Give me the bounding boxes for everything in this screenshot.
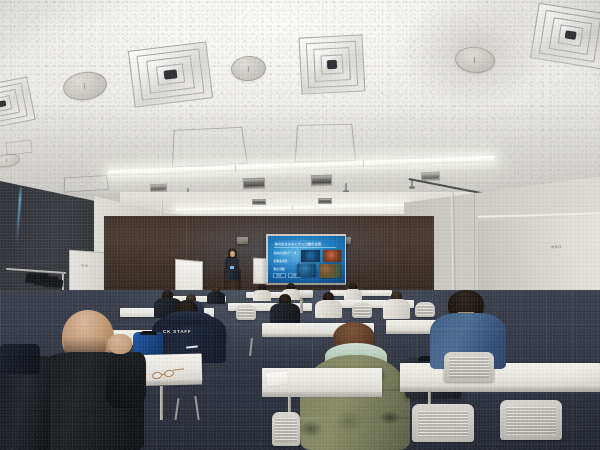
slide-thumbnail-reef-photo — [319, 264, 341, 278]
attendee-body — [383, 299, 410, 319]
clothes-hanger-icon — [42, 278, 63, 288]
ceiling-access-panel — [295, 124, 356, 162]
attendee-body — [207, 292, 225, 304]
hvac-diffuser-icon — [530, 3, 600, 70]
sprinkler-head-icon — [345, 183, 347, 191]
presenter-face — [230, 251, 235, 257]
hvac-diffuser-icon — [128, 41, 213, 107]
ceiling-access-panel — [64, 175, 109, 192]
bald-man-hand — [108, 334, 132, 354]
attendee-body — [270, 303, 300, 325]
slide-content: 海の生きものとサンゴ礁の生態 深海の調査データ 生物多様性 保全活動 調査 記録 — [268, 236, 345, 283]
chair[interactable] — [352, 303, 372, 318]
recessed-downlight — [243, 178, 265, 190]
slide-title: 海の生きものとサンゴ礁の生態 — [275, 241, 322, 246]
staff-jacket-text: CK STAFF — [163, 329, 192, 334]
recessed-downlight — [150, 184, 167, 193]
bald-man-arm — [106, 352, 146, 408]
sweater-shoulder-seam — [430, 329, 506, 331]
front-wall-seam — [394, 217, 395, 289]
recessed-downlight — [252, 199, 266, 205]
slide-tag: 調査 — [273, 273, 286, 278]
navy-bag — [0, 344, 40, 374]
projection-screen: 海の生きものとサンゴ礁の生態 深海の調査データ 生物多様性 保全活動 調査 記録 — [266, 234, 346, 284]
sprinkler-head-icon — [411, 180, 413, 187]
attendee-body — [344, 289, 362, 300]
table-leg — [160, 386, 163, 420]
seminar-room-photo: 倉庫 非常口 海の生きものとサンゴ礁の生態 深海 — [0, 0, 600, 450]
chair[interactable] — [500, 400, 562, 440]
jacket-seam — [300, 417, 410, 419]
attendee-body — [315, 300, 342, 318]
chair[interactable] — [412, 404, 474, 442]
slide-title-rule — [274, 247, 336, 248]
ceiling-access-panel — [172, 127, 248, 168]
recessed-downlight — [311, 175, 332, 187]
staff-man-hood — [164, 311, 212, 325]
slide-thumbnail-fish-photo — [301, 250, 320, 262]
slide-bullet: 生物多様性 — [274, 259, 288, 263]
chair[interactable] — [236, 305, 256, 320]
screen-bottom-bar — [266, 283, 346, 285]
bag-strap — [140, 331, 157, 335]
chair[interactable] — [415, 302, 435, 317]
hvac-diffuser-icon — [299, 34, 366, 94]
chair[interactable] — [272, 412, 300, 446]
table-edge — [262, 392, 382, 397]
presenter-badge — [230, 266, 234, 269]
projector-stand — [300, 297, 303, 313]
recessed-downlight — [421, 172, 440, 182]
ceiling-access-panel — [5, 140, 32, 156]
slide-thumbnail-coral-photo — [323, 250, 341, 262]
recessed-downlight — [318, 198, 332, 204]
partition-sign: 非常口 — [551, 244, 561, 250]
slide-bullet: 保全活動 — [274, 267, 286, 271]
paper-notes — [265, 371, 288, 386]
chair[interactable] — [444, 352, 494, 382]
wall-speaker-icon — [237, 237, 248, 244]
hood-drawstring — [186, 345, 198, 348]
slide-thumbnail-seabed-photo — [297, 264, 316, 277]
slide-bullet: 深海の調査データ — [274, 251, 297, 255]
door-sign: 倉庫 — [81, 263, 89, 269]
attendee-body — [253, 290, 271, 301]
